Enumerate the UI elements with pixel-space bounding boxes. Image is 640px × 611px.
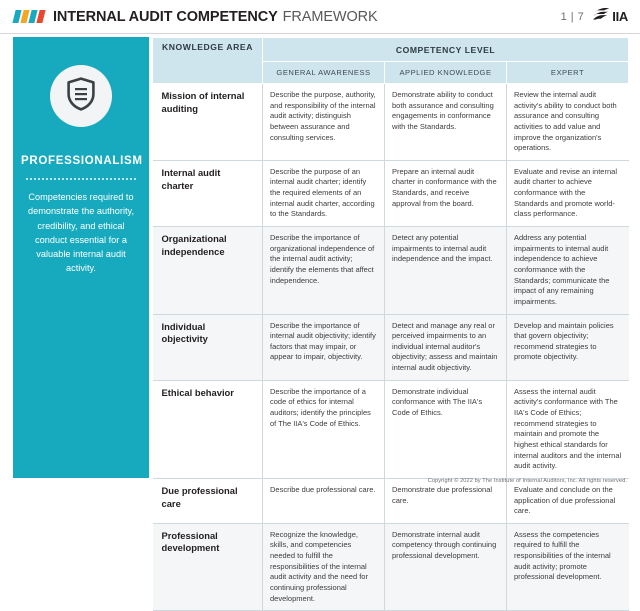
page-title-light: FRAMEWORK [283,9,378,25]
row-applied-knowledge: Demonstrate due professional care. [385,478,507,523]
row-general-awareness: Describe the purpose, authority, and res… [263,84,385,161]
row-expert: Evaluate and conclude on the application… [507,478,629,523]
sidebar-description: Competencies required to demonstrate the… [21,190,141,276]
row-applied-knowledge: Detect and manage any real or perceived … [385,314,507,380]
header-right-group: 1 | 7 IIA [561,7,628,26]
row-expert: Review the internal audit activity's abi… [507,84,629,161]
row-general-awareness: Describe the importance of internal audi… [263,314,385,380]
table-row: Due professional care Describe due profe… [153,478,629,523]
row-applied-knowledge: Demonstrate internal audit competency th… [385,523,507,610]
row-general-awareness: Describe the importance of a code of eth… [263,380,385,478]
brand-bar-4 [36,10,45,23]
column-header-expert: EXPERT [507,62,629,84]
table-row: Internal audit charter Describe the purp… [153,160,629,226]
row-general-awareness: Recognize the knowledge, skills, and com… [263,523,385,610]
competency-table: KNOWLEDGE AREA COMPETENCY LEVEL GENERAL … [152,37,629,611]
table-row: Ethical behavior Describe the importance… [153,380,629,478]
sidebar-divider [25,178,137,180]
page-header: INTERNAL AUDIT COMPETENCY FRAMEWORK 1 | … [0,0,640,34]
page-indicator: 1 | 7 [561,11,585,23]
page-title: INTERNAL AUDIT COMPETENCY FRAMEWORK [53,9,378,25]
row-expert: Evaluate and revise an internal audit ch… [507,160,629,226]
row-applied-knowledge: Detect any potential impairments to inte… [385,227,507,314]
row-area-label: Ethical behavior [153,380,263,478]
row-area-label: Individual objectivity [153,314,263,380]
row-expert: Address any potential impairments to int… [507,227,629,314]
column-header-knowledge-area: KNOWLEDGE AREA [153,38,263,84]
page-body: PROFESSIONALISM Competencies required to… [0,34,640,495]
row-applied-knowledge: Demonstrate ability to conduct both assu… [385,84,507,161]
table-row: Professional development Recognize the k… [153,523,629,610]
table-row: Mission of internal auditing Describe th… [153,84,629,161]
shield-icon [66,77,96,116]
page-title-strong: INTERNAL AUDIT COMPETENCY [53,9,278,25]
row-area-label: Internal audit charter [153,160,263,226]
column-header-competency-level: COMPETENCY LEVEL [263,38,629,62]
column-header-applied-knowledge: APPLIED KNOWLEDGE [385,62,507,84]
row-area-label: Professional development [153,523,263,610]
brand-bars-logo [14,10,44,23]
shield-badge [50,65,112,127]
sidebar-title: PROFESSIONALISM [21,155,141,167]
iia-globe-icon [593,7,610,26]
footer-copyright: Copyright © 2022 by The Institute of Int… [0,478,640,484]
row-general-awareness: Describe the importance of organizationa… [263,227,385,314]
row-area-label: Mission of internal auditing [153,84,263,161]
row-general-awareness: Describe the purpose of an internal audi… [263,160,385,226]
row-area-label: Organizational independence [153,227,263,314]
table-header-row-1: KNOWLEDGE AREA COMPETENCY LEVEL [153,38,629,62]
iia-logo: IIA [593,7,628,26]
row-area-label: Due professional care [153,478,263,523]
row-applied-knowledge: Demonstrate individual conformance with … [385,380,507,478]
row-general-awareness: Describe due professional care. [263,478,385,523]
professionalism-sidebar: PROFESSIONALISM Competencies required to… [13,37,149,478]
row-expert: Assess the internal audit activity's con… [507,380,629,478]
iia-logo-text: IIA [612,9,628,24]
table-row: Individual objectivity Describe the impo… [153,314,629,380]
column-header-general-awareness: GENERAL AWARENESS [263,62,385,84]
row-applied-knowledge: Prepare an internal audit charter in con… [385,160,507,226]
table-row: Organizational independence Describe the… [153,227,629,314]
row-expert: Develop and maintain policies that gover… [507,314,629,380]
row-expert: Assess the competencies required to fulf… [507,523,629,610]
